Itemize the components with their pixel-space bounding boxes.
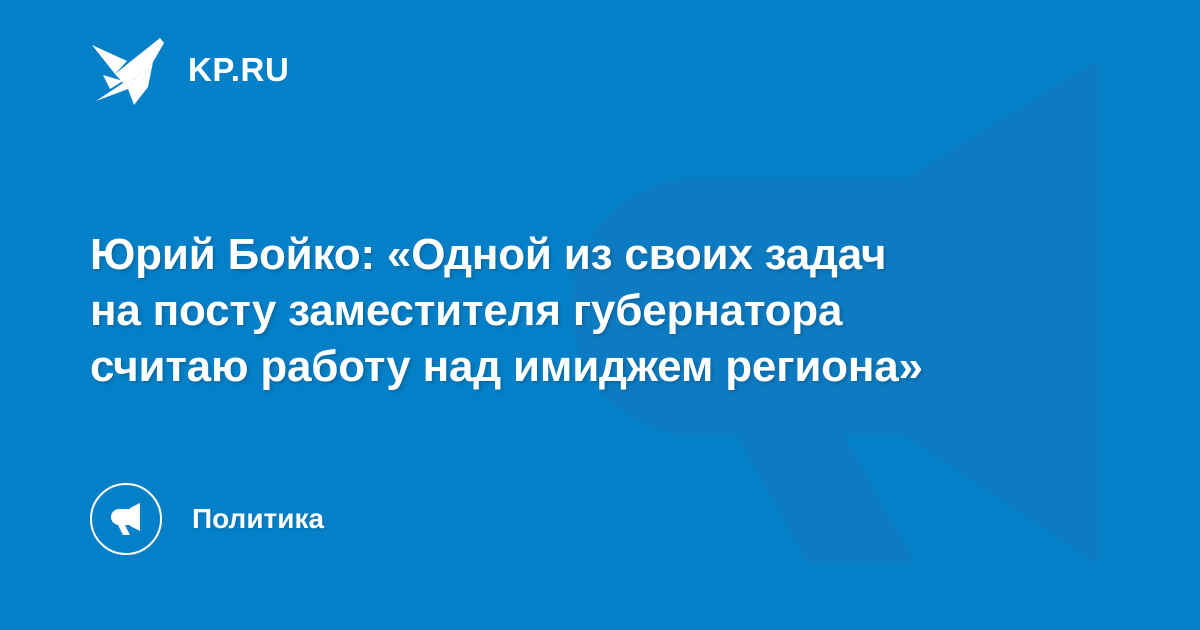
category-icon-circle [90,483,162,555]
category-badge[interactable]: Политика [90,483,324,555]
social-share-card: KP.RU Юрий Бойко: «Одной из своих задач … [0,0,1200,630]
swallow-bird-icon [90,31,166,107]
headline-text: Юрий Бойко: «Одной из своих задач на пос… [90,227,1090,395]
category-label: Политика [192,505,324,533]
megaphone-icon [106,499,146,539]
brand-header: KP.RU [90,33,289,105]
brand-wordmark: KP.RU [188,53,289,86]
